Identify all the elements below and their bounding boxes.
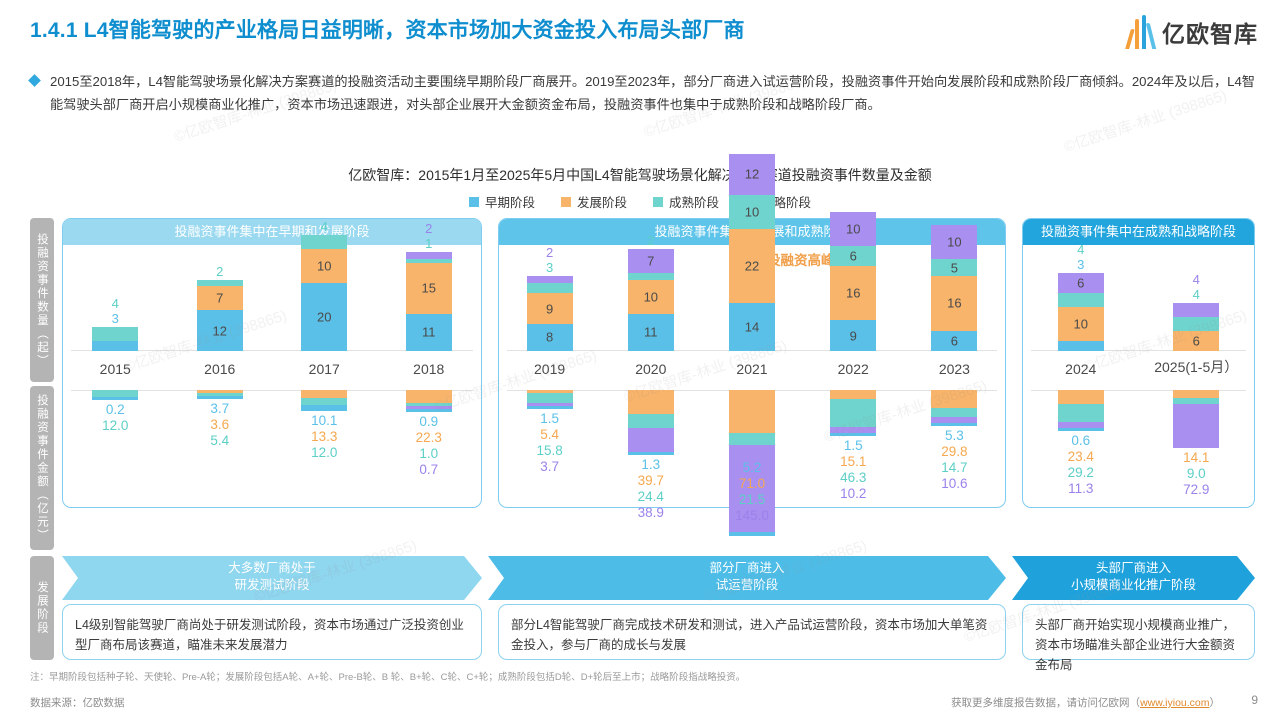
arrow-line2: 试运营阶段	[488, 577, 1006, 594]
chart-column: 432015	[63, 245, 168, 385]
chart-column: 0.212.0	[63, 390, 168, 508]
bar-segment: 10	[628, 280, 674, 314]
bar-segment	[1058, 422, 1104, 429]
chart-column: 0.623.429.211.3	[1023, 390, 1139, 508]
chart-panel-mature: 投融资事件集中在成熟和战略阶段 6104320246442025(1-5月） 0…	[1022, 218, 1255, 508]
phase-description-trial: 部分L4智能驾驶厂商完成技术研发和测试，进入产品试运营阶段，资本市场加大单笔资金…	[498, 604, 1006, 660]
bar-segment: 12	[729, 154, 775, 195]
chart-column: 1.515.146.310.2	[803, 390, 904, 508]
chart-column: 121022142021	[701, 245, 802, 385]
bar-value-label: 10	[1058, 316, 1104, 331]
bar-segment: 22	[729, 229, 775, 304]
bar-value-list: 0.922.31.00.7	[416, 414, 442, 478]
bar-segment: 12	[197, 310, 243, 351]
bar-segment	[527, 393, 573, 402]
legend-label: 发展阶段	[577, 192, 627, 211]
page-number: 9	[1251, 693, 1258, 707]
bar-segment	[1058, 428, 1104, 431]
bar-outer-labels: 43	[1077, 242, 1084, 272]
bar-segment	[1173, 303, 1219, 317]
x-axis-label: 2015	[63, 361, 168, 377]
bar-segment: 8	[527, 324, 573, 351]
x-axis-label: 2024	[1023, 361, 1139, 377]
bar-value-list: 5.271.021.5145.0	[735, 460, 769, 524]
bar-value-label: 20	[301, 310, 347, 325]
bar-segment: 15	[406, 263, 452, 314]
bar-value-label: 22	[729, 259, 775, 274]
chart-column: 102042017	[272, 245, 377, 385]
bar-segment	[92, 341, 138, 351]
chart-column: 1511212018	[377, 245, 482, 385]
bar-segment	[527, 283, 573, 293]
bar-segment: 7	[628, 249, 674, 273]
rail-label-amount: 投融资事件金额（亿元）	[30, 386, 54, 550]
bar-segment	[1058, 293, 1104, 307]
chart-column: 5.271.021.5145.0	[701, 390, 802, 508]
x-axis-label: 2018	[377, 361, 482, 377]
bar-outer-labels: 2	[647, 233, 654, 248]
bar-value-list: 14.19.072.9	[1183, 450, 1209, 498]
bar-segment	[92, 390, 138, 397]
legend-item-2: 成熟阶段	[653, 192, 719, 211]
stacked-bar: 98	[527, 276, 573, 351]
stacked-bar: 610	[1058, 273, 1104, 351]
bar-segment: 10	[301, 249, 347, 283]
bar-value-label: 6	[931, 333, 977, 348]
chart-column: 5.329.814.710.6	[904, 390, 1005, 508]
bar-segment	[527, 406, 573, 409]
bar-value-label: 10	[729, 204, 775, 219]
x-axis-label: 2021	[701, 361, 802, 377]
legend-item-0: 早期阶段	[469, 192, 535, 211]
chart-column: 1.339.724.438.9	[600, 390, 701, 508]
arrow-line1: 部分厂商进入	[488, 560, 1006, 577]
count-plot-growth: 9823201971011220201210221420211061692022…	[499, 245, 1005, 385]
bar-value-label: 9	[830, 328, 876, 343]
x-axis-label: 2025(1-5月）	[1139, 357, 1255, 377]
bar-segment: 16	[931, 276, 977, 330]
bar-value-list: 5.329.814.710.6	[941, 428, 967, 492]
stacked-bar	[301, 390, 347, 411]
bar-value-list: 10.113.312.0	[311, 413, 337, 461]
panel-header-mature: 投融资事件集中在成熟和战略阶段	[1023, 219, 1254, 245]
bar-segment: 9	[830, 320, 876, 351]
bar-segment: 5	[931, 259, 977, 276]
bar-segment	[1058, 404, 1104, 422]
bar-value-list: 1.339.724.438.9	[638, 457, 664, 521]
iyiou-link[interactable]: www.iyiou.com	[1140, 697, 1209, 709]
brand-logo: 亿欧智库	[1128, 12, 1258, 52]
bar-value-label: 6	[1058, 276, 1104, 291]
chart-panel-early: 投融资事件集中在早期和发展阶段 432015712220161020420171…	[62, 218, 482, 508]
bar-segment	[628, 390, 674, 414]
bar-value-label: 10	[301, 259, 347, 274]
bar-segment	[301, 390, 347, 398]
stacked-bar: 6	[1173, 303, 1219, 351]
chart-column: 7101122020	[600, 245, 701, 385]
stacked-bar: 12102214	[729, 154, 775, 351]
bar-value-label: 16	[830, 286, 876, 301]
bar-outer-labels: 21	[425, 221, 432, 251]
bar-segment	[92, 397, 138, 400]
stacked-bar	[527, 390, 573, 409]
page-header: 1.4.1 L4智能驾驶的产业格局日益明晰，资本市场加大资金投入布局头部厂商 亿…	[0, 0, 1280, 58]
bar-segment	[92, 327, 138, 341]
bar-segment	[406, 409, 452, 412]
stacked-bar: 1020	[301, 235, 347, 351]
rail-label-count: 投融资事件数量（起）	[30, 218, 54, 382]
logo-mark-icon	[1128, 15, 1158, 49]
chart-column: 1051662023	[904, 245, 1005, 385]
bar-value-label: 16	[931, 296, 977, 311]
legend-swatch-icon	[469, 197, 479, 207]
chart-column: 98232019	[499, 245, 600, 385]
page-title: 1.4.1 L4智能驾驶的产业格局日益明晰，资本市场加大资金投入布局头部厂商	[30, 14, 745, 44]
bar-outer-labels: 2	[216, 264, 223, 279]
bar-segment	[1058, 390, 1104, 404]
stacked-bar	[830, 390, 876, 436]
stacked-bar	[92, 327, 138, 351]
chart-column: 3.73.65.4	[168, 390, 273, 508]
stacked-bar	[406, 390, 452, 412]
rail-label-phase: 发展阶段	[30, 556, 54, 660]
bar-segment	[931, 423, 977, 426]
legend-label: 早期阶段	[485, 192, 535, 211]
stacked-bar	[931, 390, 977, 426]
bar-segment	[1173, 404, 1219, 448]
phase-description-commercial: 头部厂商开始实现小规模商业推广，资本市场瞄准头部企业进行大金额资金布局	[1022, 604, 1255, 660]
chart-column: 0.922.31.00.7	[377, 390, 482, 508]
bar-segment: 11	[406, 314, 452, 351]
bar-value-label: 8	[527, 330, 573, 345]
intro-text: 2015至2018年，L4智能驾驶场景化解决方案赛道的投融资活动主要围绕早期阶段…	[50, 70, 1255, 116]
chart-column: 610432024	[1023, 245, 1139, 385]
bar-segment	[729, 390, 775, 433]
bar-segment	[301, 235, 347, 249]
phase-arrow-commercial: 头部厂商进入 小规模商业化推广阶段	[1012, 556, 1255, 600]
amount-plot-mature: 0.623.429.211.314.19.072.9	[1023, 390, 1254, 508]
bar-segment: 10	[830, 212, 876, 246]
bar-outer-labels: 44	[1193, 272, 1200, 302]
bar-segment: 6	[931, 331, 977, 351]
bar-segment: 7	[197, 286, 243, 310]
bar-segment	[830, 390, 876, 399]
x-axis-label: 2017	[272, 361, 377, 377]
bar-outer-labels: 43	[112, 296, 119, 326]
bar-value-label: 14	[729, 320, 775, 335]
bar-segment	[406, 390, 452, 403]
legend-swatch-icon	[653, 197, 663, 207]
bar-segment	[729, 433, 775, 446]
arrow-line2: 研发测试阶段	[62, 577, 482, 594]
bar-value-list: 0.212.0	[102, 402, 128, 434]
bar-segment	[729, 532, 775, 535]
bar-segment	[197, 280, 243, 287]
bar-segment: 14	[729, 303, 775, 351]
x-axis-label: 2022	[803, 361, 904, 377]
bar-segment: 6	[1173, 331, 1219, 351]
chart-column: 6442025(1-5月）	[1139, 245, 1255, 385]
bar-segment	[527, 276, 573, 283]
bar-value-label: 9	[527, 301, 573, 316]
bar-value-label: 12	[729, 167, 775, 182]
amount-plot-early: 0.212.03.73.65.410.113.312.00.922.31.00.…	[63, 390, 481, 508]
logo-text: 亿欧智库	[1162, 15, 1258, 49]
bar-segment: 10	[729, 195, 775, 229]
bar-value-list: 1.55.415.83.7	[536, 411, 562, 475]
bullet-diamond-icon	[28, 74, 41, 87]
stacked-bar	[197, 390, 243, 399]
bar-segment	[406, 252, 452, 259]
more-info: 获取更多维度报告数据，请访问亿欧网（www.iyiou.com）	[951, 695, 1220, 710]
bar-segment	[628, 414, 674, 429]
bar-value-label: 7	[197, 291, 243, 306]
bar-outer-labels: 4	[321, 219, 328, 234]
bar-segment	[301, 405, 347, 411]
legend-swatch-icon	[561, 197, 571, 207]
phase-description-rd: L4级别智能驾驶厂商尚处于研发测试阶段，资本市场通过广泛投资创业型厂商布局该赛道…	[62, 604, 482, 660]
chart-column: 10.113.312.0	[272, 390, 377, 508]
bar-segment	[628, 452, 674, 455]
bar-value-label: 5	[931, 260, 977, 275]
stacked-bar: 105166	[931, 225, 977, 351]
x-axis-label: 2019	[499, 361, 600, 377]
bar-value-label: 6	[1173, 333, 1219, 348]
bar-segment: 16	[830, 266, 876, 320]
phase-arrow-rd: 大多数厂商处于 研发测试阶段	[62, 556, 482, 600]
bar-value-label: 15	[406, 281, 452, 296]
data-source: 数据来源：亿欧数据	[30, 695, 125, 710]
chart-column: 71222016	[168, 245, 273, 385]
bar-segment	[1173, 390, 1219, 398]
bar-value-list: 1.515.146.310.2	[840, 438, 866, 502]
count-plot-mature: 6104320246442025(1-5月）	[1023, 245, 1254, 385]
stacked-bar: 71011	[628, 249, 674, 351]
legend-label: 成熟阶段	[669, 192, 719, 211]
bar-value-label: 10	[931, 235, 977, 250]
footnote: 注：早期阶段包括种子轮、天使轮、Pre-A轮；发展阶段包括A轮、A+轮、Pre-…	[30, 669, 745, 683]
stacked-bar: 712	[197, 280, 243, 351]
bar-segment: 6	[1058, 273, 1104, 293]
bar-segment	[931, 408, 977, 417]
chart-column: 1061692022	[803, 245, 904, 385]
bar-segment	[1058, 341, 1104, 351]
bar-segment: 10	[1058, 307, 1104, 341]
legend-item-1: 发展阶段	[561, 192, 627, 211]
intro-paragraph: 2015至2018年，L4智能驾驶场景化解决方案赛道的投融资活动主要围绕早期阶段…	[30, 70, 1255, 116]
panel-header-early: 投融资事件集中在早期和发展阶段	[63, 219, 481, 245]
chart-title: 亿欧智库：2015年1月至2025年5月中国L4智能驾驶场景化解决方案赛道投融资…	[0, 165, 1280, 185]
bar-segment	[628, 428, 674, 451]
bar-segment	[1173, 317, 1219, 331]
bar-segment: 6	[830, 246, 876, 266]
bar-segment: 10	[931, 225, 977, 259]
bar-value-list: 0.623.429.211.3	[1068, 433, 1094, 497]
phase-arrow-trial: 部分厂商进入 试运营阶段	[488, 556, 1006, 600]
chart-column: 1.55.415.83.7	[499, 390, 600, 508]
bar-value-label: 11	[628, 325, 674, 340]
bar-segment	[830, 399, 876, 427]
arrow-line1: 头部厂商进入	[1012, 560, 1255, 577]
bar-segment	[830, 433, 876, 436]
chart-panel-growth: 投融资事件集中在发展和成熟阶段 投融资高峰期 98232019710112202…	[498, 218, 1006, 508]
stacked-bar: 106169	[830, 212, 876, 351]
bar-value-label: 11	[406, 325, 452, 340]
arrow-line2: 小规模商业化推广阶段	[1012, 577, 1255, 594]
chart-legend: 早期阶段发展阶段成熟阶段战略阶段	[0, 192, 1280, 211]
amount-plot-growth: 1.55.415.83.71.339.724.438.95.271.021.51…	[499, 390, 1005, 508]
bar-outer-labels: 23	[546, 245, 553, 275]
arrow-line1: 大多数厂商处于	[62, 560, 482, 577]
bar-value-label: 10	[628, 289, 674, 304]
bar-segment	[301, 398, 347, 405]
bar-segment	[931, 390, 977, 408]
x-axis-label: 2016	[168, 361, 273, 377]
count-plot-early: 432015712220161020420171511212018	[63, 245, 481, 385]
stacked-bar: 1511	[406, 252, 452, 351]
bar-segment: 20	[301, 283, 347, 351]
stacked-bar	[628, 390, 674, 455]
x-axis-label: 2023	[904, 361, 1005, 377]
bar-segment: 9	[527, 293, 573, 324]
more-suffix: ）	[1210, 697, 1221, 709]
bar-value-label: 10	[830, 221, 876, 236]
bar-segment: 11	[628, 314, 674, 351]
bar-value-label: 12	[197, 323, 243, 338]
stacked-bar	[1058, 390, 1104, 431]
x-axis-label: 2020	[600, 361, 701, 377]
bar-value-label: 7	[628, 253, 674, 268]
chart-column: 14.19.072.9	[1139, 390, 1255, 508]
more-prefix: 获取更多维度报告数据，请访问亿欧网（	[951, 697, 1140, 709]
bar-value-list: 3.73.65.4	[210, 401, 229, 449]
bar-segment	[628, 273, 674, 280]
bar-segment	[197, 396, 243, 399]
bar-value-label: 6	[830, 248, 876, 263]
stacked-bar	[92, 390, 138, 400]
stacked-bar	[1173, 390, 1219, 448]
